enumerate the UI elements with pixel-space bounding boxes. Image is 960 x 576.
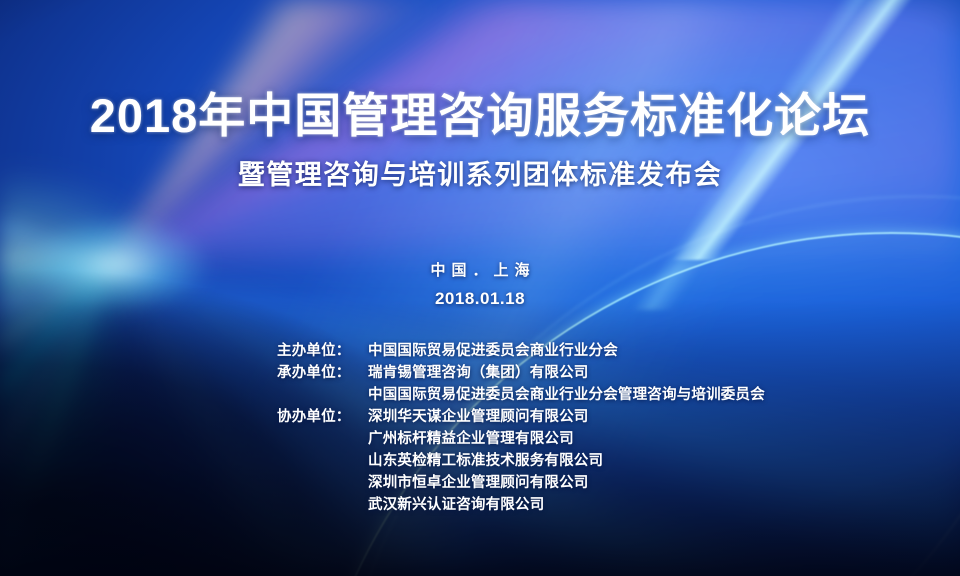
organizer-value: 山东英检精工标准技术服务有限公司 <box>368 449 603 470</box>
organizer-row: 中国国际贸易促进委员会商业行业分会管理咨询与培训委员会 <box>277 383 765 405</box>
organizer-row: 深圳市恒卓企业管理顾问有限公司 <box>277 471 765 493</box>
organizer-row: 广州标杆精益企业管理有限公司 <box>277 427 765 449</box>
organizer-label: 协办单位： <box>277 405 368 426</box>
organizer-row: 山东英检精工标准技术服务有限公司 <box>277 449 765 471</box>
poster-content: 2018年中国管理咨询服务标准化论坛 暨管理咨询与培训系列团体标准发布会 中国．… <box>0 0 960 576</box>
organizer-row: 协办单位： 深圳华天谋企业管理顾问有限公司 <box>277 405 765 427</box>
organizer-value: 中国国际贸易促进委员会商业行业分会管理咨询与培训委员会 <box>368 383 765 404</box>
organizer-label: 承办单位： <box>277 361 368 382</box>
organizer-value: 瑞肯锡管理咨询（集团）有限公司 <box>368 361 589 382</box>
organizer-label: 主办单位： <box>277 339 368 360</box>
organizer-value: 武汉新兴认证咨询有限公司 <box>368 493 544 514</box>
conference-poster: 2018年中国管理咨询服务标准化论坛 暨管理咨询与培训系列团体标准发布会 中国．… <box>0 0 960 576</box>
organizer-value: 中国国际贸易促进委员会商业行业分会 <box>368 339 618 360</box>
organizer-list: 主办单位： 中国国际贸易促进委员会商业行业分会 承办单位： 瑞肯锡管理咨询（集团… <box>277 339 765 515</box>
organizer-row: 武汉新兴认证咨询有限公司 <box>277 493 765 515</box>
organizer-value: 深圳市恒卓企业管理顾问有限公司 <box>368 471 589 492</box>
page-subtitle: 暨管理咨询与培训系列团体标准发布会 <box>0 162 960 189</box>
organizer-row: 承办单位： 瑞肯锡管理咨询（集团）有限公司 <box>277 361 765 383</box>
organizer-value: 广州标杆精益企业管理有限公司 <box>368 427 574 448</box>
organizer-row: 主办单位： 中国国际贸易促进委员会商业行业分会 <box>277 339 765 361</box>
event-location: 中国．上海 <box>0 259 960 280</box>
event-date: 2018.01.18 <box>0 289 960 309</box>
page-title: 2018年中国管理咨询服务标准化论坛 <box>0 92 960 139</box>
organizer-value: 深圳华天谋企业管理顾问有限公司 <box>368 405 589 426</box>
